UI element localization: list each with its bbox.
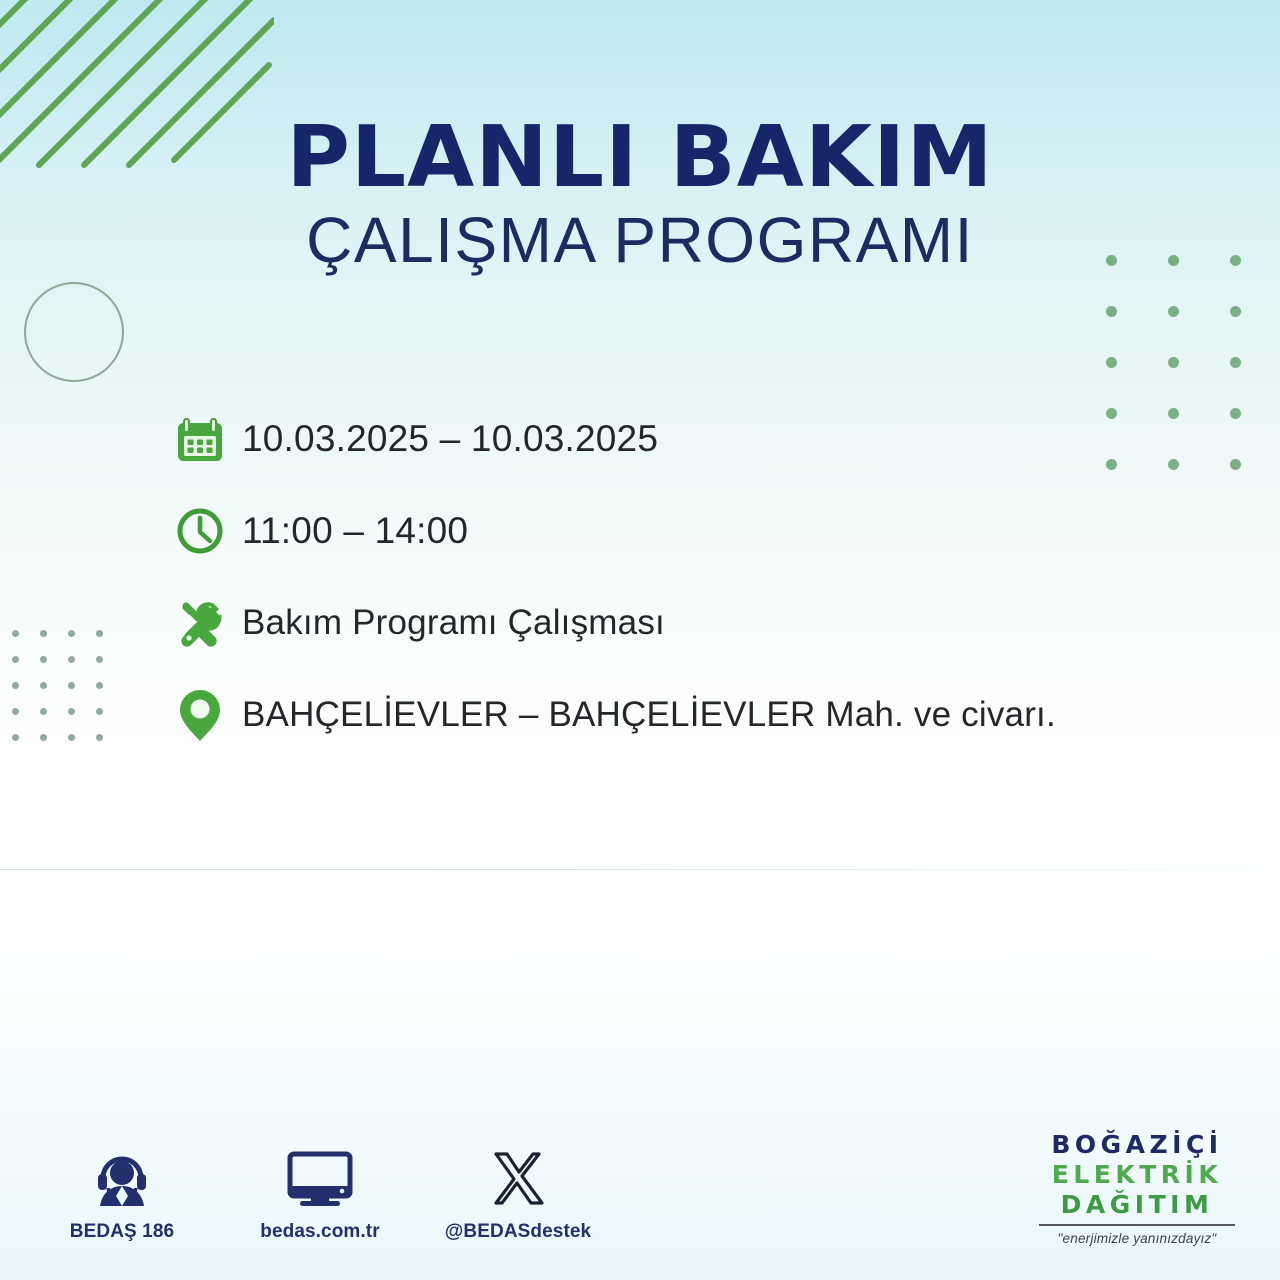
contact-phone-label: BEDAŞ 186 (70, 1221, 174, 1243)
logo-line-elektrik: ELEKTRİK (1030, 1162, 1244, 1187)
poster-heading: PLANLI BAKIM ÇALIŞMA PROGRAMI (0, 116, 1280, 277)
location-pin-icon (174, 680, 242, 750)
page-subtitle: ÇALIŞMA PROGRAMI (0, 205, 1280, 277)
detail-time-text: 11:00 – 14:00 (242, 510, 468, 552)
footer-contacts: BEDAŞ 186 bedas.com.tr @BEDASdestek (52, 1140, 588, 1243)
contact-x-social[interactable]: @BEDASdestek (448, 1140, 588, 1243)
logo-divider (1039, 1224, 1235, 1226)
logo-line-dagitim: DAĞITIM (1030, 1192, 1244, 1217)
monitor-icon (285, 1140, 355, 1210)
logo-tagline: "enerjimizle yanınızdayız" (1030, 1232, 1244, 1246)
detail-row-time: 11:00 – 14:00 (174, 496, 1174, 566)
clock-icon (174, 496, 242, 566)
detail-row-date: 10.03.2025 – 10.03.2025 (174, 404, 1174, 474)
detail-work-type-text: Bakım Programı Çalışması (242, 603, 665, 643)
contact-website[interactable]: bedas.com.tr (250, 1140, 390, 1243)
contact-phone[interactable]: BEDAŞ 186 (52, 1140, 192, 1243)
detail-row-work-type: Bakım Programı Çalışması (174, 588, 1174, 658)
contact-website-label: bedas.com.tr (260, 1221, 379, 1243)
planned-maintenance-poster: PLANLI BAKIM ÇALIŞMA PROGRAMI (0, 0, 1280, 1280)
circle-outline-decoration (24, 282, 124, 382)
bedas-logo: BOĞAZİÇİ ELEKTRİK DAĞITIM "enerjimizle y… (1030, 1132, 1244, 1245)
contact-x-social-label: @BEDASdestek (445, 1221, 591, 1243)
detail-location-text: BAHÇELİEVLER – BAHÇELİEVLER Mah. ve civa… (242, 695, 1056, 735)
page-title: PLANLI BAKIM (0, 116, 1280, 199)
dot-grid-left-decoration (12, 630, 124, 760)
tools-icon (174, 588, 242, 658)
logo-line-bogazici: BOĞAZİÇİ (1030, 1132, 1244, 1157)
outage-details-list: 10.03.2025 – 10.03.2025 11:00 – 14:00 (174, 404, 1174, 750)
calendar-icon (174, 404, 242, 474)
detail-row-location: BAHÇELİEVLER – BAHÇELİEVLER Mah. ve civa… (174, 680, 1174, 750)
x-twitter-icon (487, 1140, 549, 1210)
call-center-headset-icon (89, 1140, 155, 1210)
horizontal-divider-line (0, 869, 1280, 870)
detail-date-text: 10.03.2025 – 10.03.2025 (242, 418, 658, 460)
